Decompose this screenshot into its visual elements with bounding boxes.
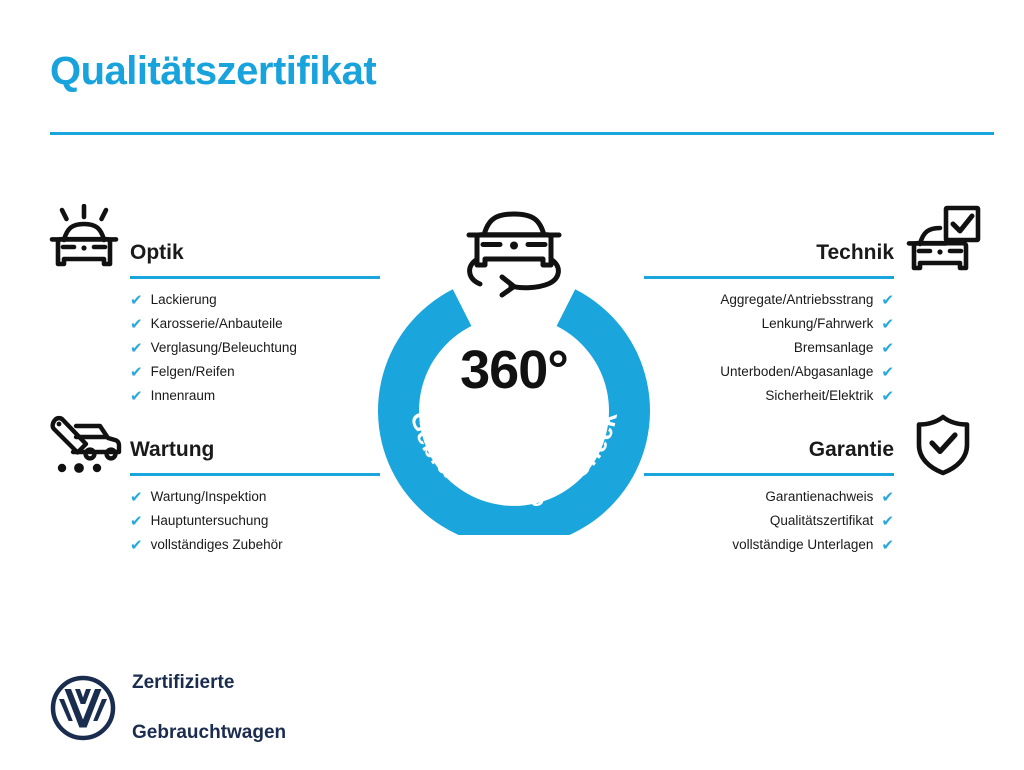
section-garantie-divider <box>644 473 894 476</box>
list-item-label: Verglasung/Beleuchtung <box>151 336 297 360</box>
list-item-label: Unterboden/Abgasanlage <box>720 360 873 384</box>
list-item: ✔vollständiges Zubehör <box>130 533 380 557</box>
list-item-label: Wartung/Inspektion <box>151 485 267 509</box>
car-service-tool-icon <box>46 414 122 481</box>
list-item: ✔Hauptuntersuchung <box>130 509 380 533</box>
check-icon: ✔ <box>130 317 143 332</box>
list-item: ✔Lackierung <box>130 288 380 312</box>
list-item: Aggregate/Antriebsstrang✔ <box>644 288 894 312</box>
vw-wordmark: Zertifizierte Gebrauchtwagen <box>132 645 286 770</box>
check-icon: ✔ <box>881 389 894 404</box>
list-item: ✔Wartung/Inspektion <box>130 485 380 509</box>
car-rotate-icon <box>456 201 572 301</box>
car-shine-icon <box>46 204 122 281</box>
list-item: Qualitätszertifikat✔ <box>644 509 894 533</box>
check-icon: ✔ <box>881 538 894 553</box>
check-icon: ✔ <box>130 341 143 356</box>
vw-wordmark-line2: Gebrauchtwagen <box>132 720 286 745</box>
check-icon: ✔ <box>881 317 894 332</box>
section-optik-list: ✔Lackierung ✔Karosserie/Anbauteile ✔Verg… <box>130 288 380 408</box>
list-item-label: Lenkung/Fahrwerk <box>762 312 874 336</box>
check-icon: ✔ <box>881 514 894 529</box>
check-icon: ✔ <box>130 490 143 505</box>
list-item: ✔Verglasung/Beleuchtung <box>130 336 380 360</box>
list-item: Bremsanlage✔ <box>644 336 894 360</box>
section-wartung: Wartung ✔Wartung/Inspektion ✔Hauptunters… <box>130 435 380 557</box>
shield-check-icon <box>912 413 974 482</box>
title-divider <box>50 132 994 135</box>
list-item-label: vollständiges Zubehör <box>151 533 283 557</box>
list-item-label: Qualitätszertifikat <box>770 509 874 533</box>
check-icon: ✔ <box>130 514 143 529</box>
section-optik-title: Optik <box>130 238 380 268</box>
section-technik-header: Technik <box>644 238 894 282</box>
car-checkbox-icon <box>906 204 982 281</box>
vw-logo <box>50 675 116 741</box>
list-item-label: Innenraum <box>151 384 216 408</box>
check-icon: ✔ <box>130 293 143 308</box>
list-item-label: Hauptuntersuchung <box>151 509 269 533</box>
page-title: Qualitätszertifikat <box>50 48 376 94</box>
list-item-label: Aggregate/Antriebsstrang <box>720 288 873 312</box>
list-item: ✔Innenraum <box>130 384 380 408</box>
section-optik-divider <box>130 276 380 279</box>
list-item: vollständige Unterlagen✔ <box>644 533 894 557</box>
section-garantie-header: Garantie <box>644 435 894 479</box>
list-item: Sicherheit/Elektrik✔ <box>644 384 894 408</box>
check-icon: ✔ <box>881 341 894 356</box>
list-item: ✔Karosserie/Anbauteile <box>130 312 380 336</box>
list-item-label: Lackierung <box>151 288 217 312</box>
vw-certified-logo: Zertifizierte Gebrauchtwagen <box>50 645 286 770</box>
section-wartung-header: Wartung <box>130 435 380 479</box>
list-item: Lenkung/Fahrwerk✔ <box>644 312 894 336</box>
section-garantie-list: Garantienachweis✔ Qualitätszertifikat✔ v… <box>644 485 894 557</box>
section-technik-list: Aggregate/Antriebsstrang✔ Lenkung/Fahrwe… <box>644 288 894 408</box>
check-icon: ✔ <box>881 293 894 308</box>
list-item-label: Karosserie/Anbauteile <box>151 312 283 336</box>
list-item-label: vollständige Unterlagen <box>732 533 873 557</box>
list-item-label: Garantienachweis <box>765 485 873 509</box>
section-wartung-title: Wartung <box>130 435 380 465</box>
check-icon: ✔ <box>130 538 143 553</box>
section-wartung-list: ✔Wartung/Inspektion ✔Hauptuntersuchung ✔… <box>130 485 380 557</box>
section-garantie: Garantie Garantienachweis✔ Qualitätszert… <box>644 435 894 557</box>
check-icon: ✔ <box>130 365 143 380</box>
section-optik-header: Optik <box>130 238 380 282</box>
list-item: Unterboden/Abgasanlage✔ <box>644 360 894 384</box>
list-item: ✔Felgen/Reifen <box>130 360 380 384</box>
check-icon: ✔ <box>881 490 894 505</box>
list-item-label: Sicherheit/Elektrik <box>765 384 873 408</box>
check-icon: ✔ <box>130 389 143 404</box>
list-item-label: Bremsanlage <box>794 336 874 360</box>
section-technik: Technik Aggregate/Antriebsstrang✔ Lenkun… <box>644 238 894 408</box>
gebrauchtwagen-check-badge: Gebrauchtwagen-Check 360° <box>378 263 650 493</box>
badge-number: 360° <box>378 339 650 401</box>
section-garantie-title: Garantie <box>644 435 894 465</box>
section-wartung-divider <box>130 473 380 476</box>
section-optik: Optik ✔Lackierung ✔Karosserie/Anbauteile… <box>130 238 380 408</box>
section-technik-title: Technik <box>644 238 894 268</box>
list-item-label: Felgen/Reifen <box>151 360 235 384</box>
section-technik-divider <box>644 276 894 279</box>
check-icon: ✔ <box>881 365 894 380</box>
list-item: Garantienachweis✔ <box>644 485 894 509</box>
vw-wordmark-line1: Zertifizierte <box>132 670 286 695</box>
